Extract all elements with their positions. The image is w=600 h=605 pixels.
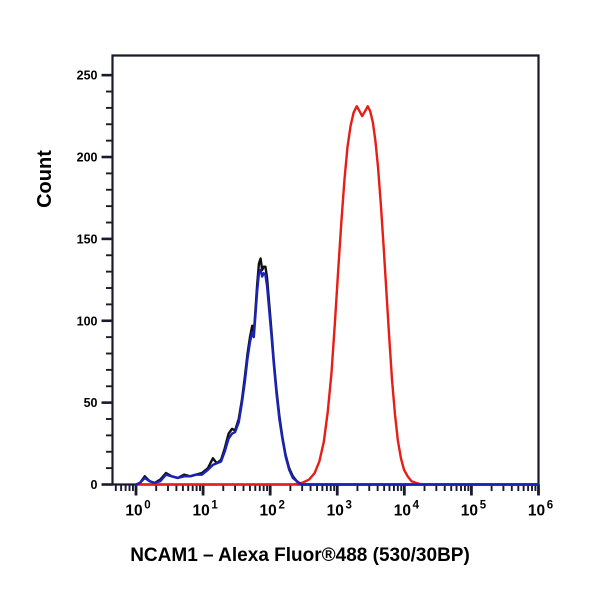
x-axis-title: NCAM1 – Alexa Fluor®488 (530/30BP) <box>0 545 600 567</box>
y-axis-title: Count <box>34 119 58 239</box>
series-line <box>136 106 539 484</box>
svg-text:150: 150 <box>77 232 98 246</box>
svg-text:5: 5 <box>480 500 487 512</box>
data-series-group <box>136 106 539 484</box>
svg-text:6: 6 <box>547 500 553 512</box>
svg-text:2: 2 <box>278 500 284 512</box>
y-axis-ticks <box>102 75 113 484</box>
svg-text:10: 10 <box>192 503 209 520</box>
svg-text:0: 0 <box>144 500 150 512</box>
flow-cytometry-figure: 050100150200250 100101102103104105106 Co… <box>0 0 600 600</box>
svg-text:200: 200 <box>77 151 98 165</box>
svg-text:10: 10 <box>327 503 344 520</box>
svg-text:50: 50 <box>84 396 98 410</box>
svg-text:3: 3 <box>346 500 352 512</box>
svg-text:4: 4 <box>413 500 420 512</box>
y-axis-tick-labels: 050100150200250 <box>77 69 98 492</box>
x-axis-ticks <box>116 485 539 496</box>
svg-text:1: 1 <box>211 500 218 512</box>
svg-text:100: 100 <box>77 314 98 328</box>
x-axis-tick-labels: 100101102103104105106 <box>125 500 553 520</box>
svg-text:10: 10 <box>528 503 545 520</box>
svg-text:10: 10 <box>125 503 142 520</box>
svg-text:10: 10 <box>260 503 277 520</box>
svg-text:0: 0 <box>91 478 98 492</box>
svg-text:10: 10 <box>461 503 478 520</box>
svg-text:10: 10 <box>394 503 411 520</box>
histogram-plot: 050100150200250 100101102103104105106 <box>0 0 600 600</box>
svg-text:250: 250 <box>77 69 98 83</box>
